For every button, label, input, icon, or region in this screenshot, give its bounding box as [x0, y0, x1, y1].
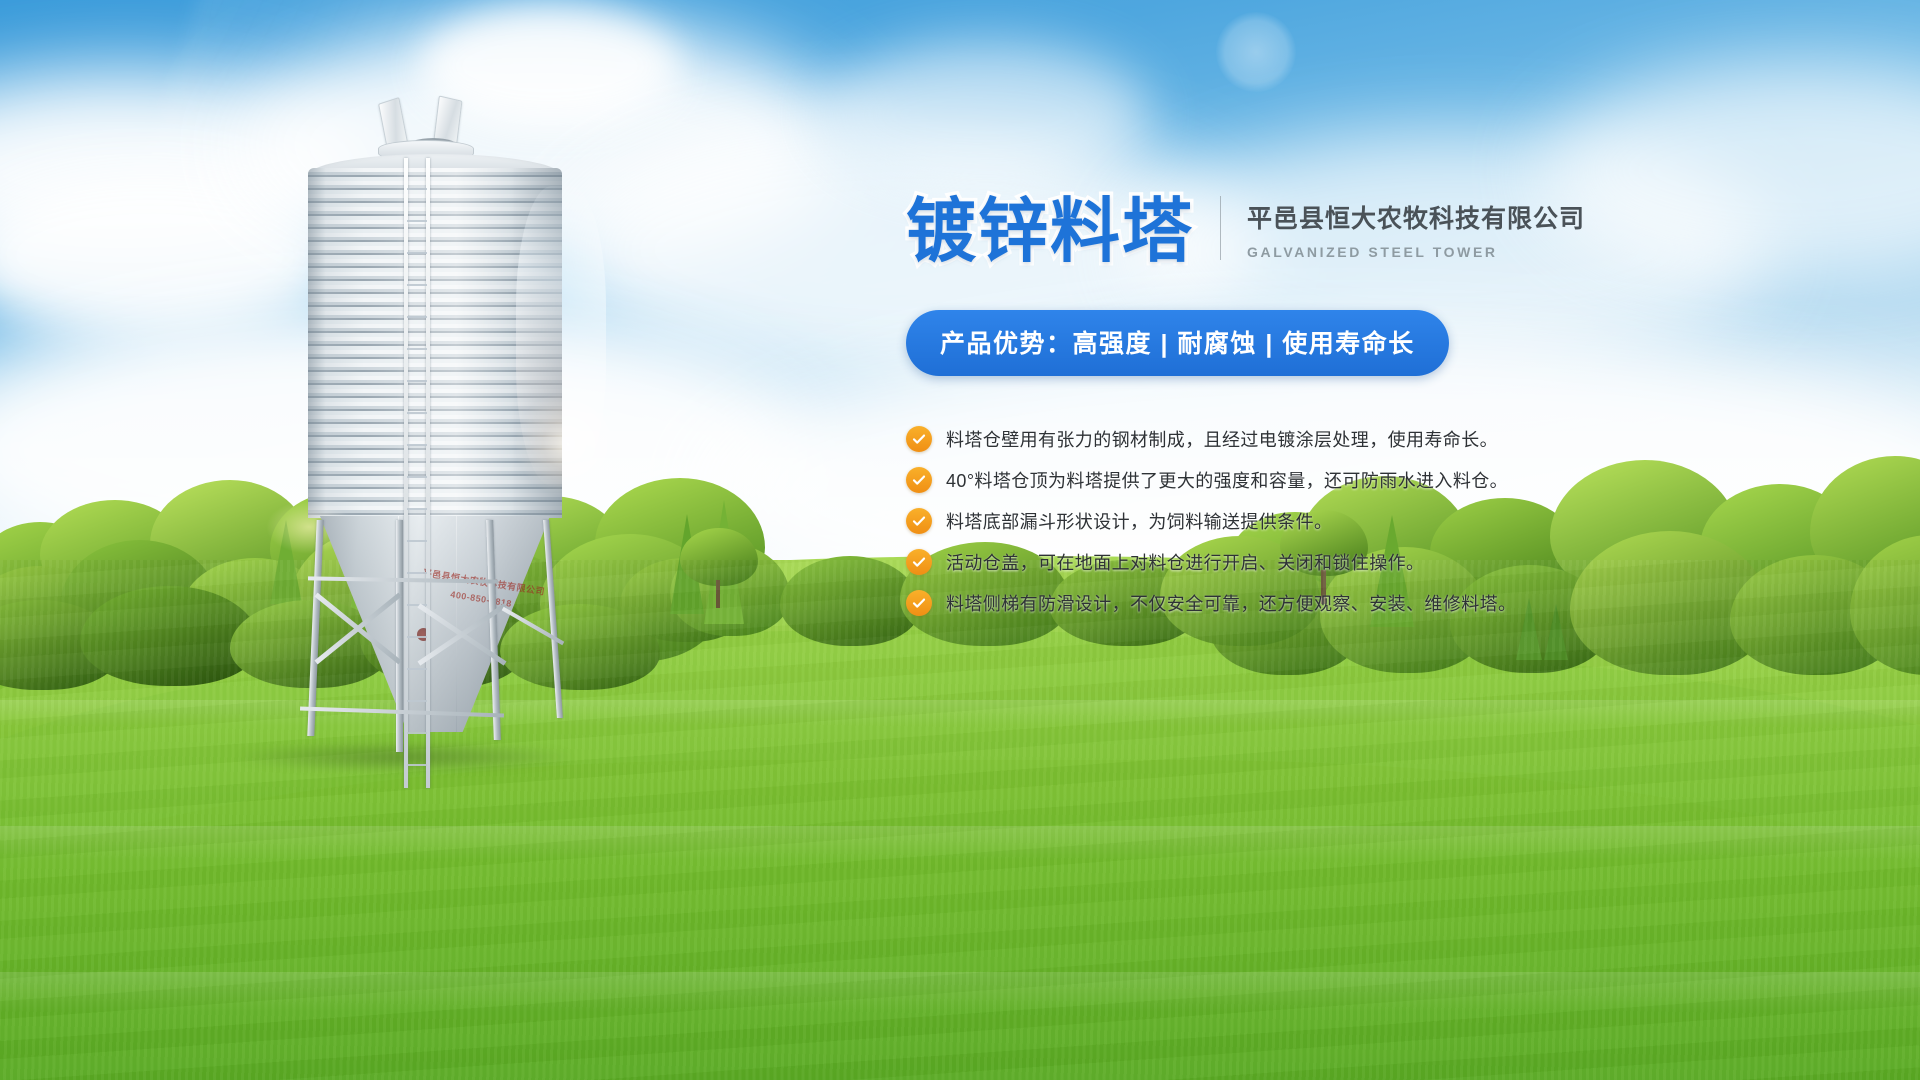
check-circle-icon	[906, 467, 932, 493]
ladder-rung	[407, 700, 427, 702]
ladder-rung	[407, 284, 427, 286]
list-item: 活动仓盖，可在地面上对料仓进行开启、关闭和锁住操作。	[906, 541, 1806, 582]
ladder-rung	[407, 412, 427, 414]
feature-text: 料塔底部漏斗形状设计，为饲料输送提供条件。	[946, 508, 1332, 534]
ladder-rung	[407, 540, 427, 542]
ladder-rung	[407, 572, 427, 574]
hero-banner: 平邑县恒大农牧科技有限公司 400-850-8818	[0, 0, 1920, 1080]
product-advantage-badge[interactable]: 产品优势：高强度 | 耐腐蚀 | 使用寿命长	[906, 310, 1449, 376]
feature-text: 40°料塔仓顶为料塔提供了更大的强度和容量，还可防雨水进入料仓。	[946, 467, 1508, 493]
silo-side-ladder	[404, 158, 430, 788]
ladder-rung	[407, 764, 427, 766]
page-title: 镀锌料塔	[906, 196, 1194, 266]
ladder-rung	[407, 668, 427, 670]
silo-support-leg	[396, 520, 403, 752]
silo-corrugated-body	[308, 168, 562, 518]
check-circle-icon	[906, 508, 932, 534]
check-circle-icon	[906, 426, 932, 452]
cloud-shape	[820, 40, 1150, 190]
title-row: 镀锌料塔 平邑县恒大农牧科技有限公司 GALVANIZED STEEL TOWE…	[906, 196, 1806, 266]
feature-text: 料塔侧梯有防滑设计，不仅安全可靠，还方便观察、安装、维修料塔。	[946, 590, 1516, 616]
feature-text: 料塔仓壁用有张力的钢材制成，且经过电镀涂层处理，使用寿命长。	[946, 426, 1498, 452]
company-block: 平邑县恒大农牧科技有限公司 GALVANIZED STEEL TOWER	[1247, 199, 1585, 266]
ladder-rung	[407, 188, 427, 190]
title-divider	[1220, 196, 1221, 260]
check-circle-icon	[906, 549, 932, 575]
list-item: 料塔仓壁用有张力的钢材制成，且经过电镀涂层处理，使用寿命长。	[906, 418, 1806, 459]
ladder-rung	[407, 476, 427, 478]
ladder-rung	[407, 380, 427, 382]
hero-text-panel: 镀锌料塔 平邑县恒大农牧科技有限公司 GALVANIZED STEEL TOWE…	[906, 196, 1806, 623]
ladder-rung	[407, 636, 427, 638]
silo-support-leg	[307, 520, 323, 736]
company-name: 平邑县恒大农牧科技有限公司	[1247, 199, 1585, 235]
feature-text: 活动仓盖，可在地面上对料仓进行开启、关闭和锁住操作。	[946, 549, 1424, 575]
ladder-rung	[407, 220, 427, 222]
ladder-rung	[407, 732, 427, 734]
feature-list: 料塔仓壁用有张力的钢材制成，且经过电镀涂层处理，使用寿命长。 40°料塔仓顶为料…	[906, 418, 1806, 623]
list-item: 料塔侧梯有防滑设计，不仅安全可靠，还方便观察、安装、维修料塔。	[906, 582, 1806, 623]
ladder-rung	[407, 252, 427, 254]
check-circle-icon	[906, 590, 932, 616]
ladder-rung	[407, 444, 427, 446]
ladder-rung	[407, 508, 427, 510]
sun-glow-circle	[1216, 12, 1296, 92]
ladder-rung	[407, 348, 427, 350]
list-item: 40°料塔仓顶为料塔提供了更大的强度和容量，还可防雨水进入料仓。	[906, 459, 1806, 500]
feed-silo-product-image: 平邑县恒大农牧科技有限公司 400-850-8818	[286, 96, 586, 756]
hopper-seam	[456, 516, 457, 732]
list-item: 料塔底部漏斗形状设计，为饲料输送提供条件。	[906, 500, 1806, 541]
company-name-english: GALVANIZED STEEL TOWER	[1247, 244, 1585, 260]
ladder-rung	[407, 316, 427, 318]
